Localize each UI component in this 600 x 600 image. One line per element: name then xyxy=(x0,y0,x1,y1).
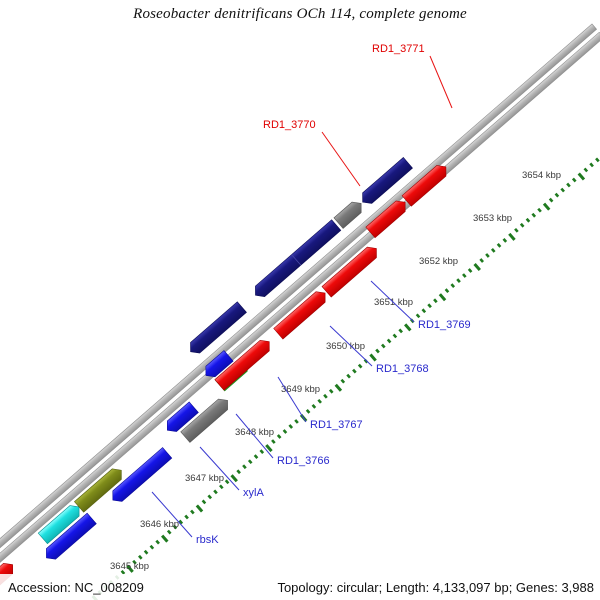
ruler-tick-minor xyxy=(278,435,281,438)
ruler-tick-minor xyxy=(388,339,391,342)
ruler-tick-minor xyxy=(446,289,449,292)
ruler-tick-major xyxy=(232,475,237,481)
ruler-tick-minor xyxy=(538,209,541,212)
ruler-tick-minor xyxy=(486,254,489,257)
ruler-tick-minor xyxy=(284,430,287,433)
ruler-tick-minor xyxy=(573,178,576,181)
ruler-tick-minor xyxy=(585,168,588,171)
gene-track-below[interactable] xyxy=(0,162,472,600)
ruler-tick-minor xyxy=(417,314,420,317)
ruler-tick-label: 3647 kbp xyxy=(185,473,224,484)
ruler-tick-major xyxy=(370,355,375,361)
ruler-tick-minor xyxy=(359,365,362,368)
ruler-tick-minor xyxy=(226,480,229,483)
status-bar: Accession: NC_008209 Topology: circular;… xyxy=(0,574,600,600)
ruler-tick-minor xyxy=(556,194,559,197)
ruler-tick-minor xyxy=(185,515,188,518)
ruler-tick-minor xyxy=(307,410,310,413)
ruler-tick-minor xyxy=(498,244,501,247)
leader-rbsK xyxy=(152,492,192,537)
ruler-tick-minor xyxy=(399,329,402,332)
ruler-tick-minor xyxy=(353,370,356,373)
ruler-tick-minor xyxy=(590,163,593,166)
ruler-tick-minor xyxy=(145,551,148,554)
ruler-tick-minor xyxy=(457,279,460,282)
ruler-tick-minor xyxy=(521,224,524,227)
ruler-tick-minor xyxy=(515,229,518,232)
gene-gray-top[interactable] xyxy=(334,198,366,228)
ruler-tick-label: 3649 kbp xyxy=(281,384,320,395)
gene-label-RD1_3767[interactable]: RD1_3767 xyxy=(310,419,363,431)
leader-RD1_3771 xyxy=(430,56,452,108)
ruler-tick-minor xyxy=(168,531,171,534)
ruler-tick-minor xyxy=(272,440,275,443)
gene-label-RD1_3768[interactable]: RD1_3768 xyxy=(376,363,429,375)
genome-viewer: Roseobacter denitrificans OCh 114, compl… xyxy=(0,0,600,600)
ruler-tick-minor xyxy=(324,395,327,398)
ruler-tick-label: 3645 kbp xyxy=(110,561,149,572)
gene-label-RD1_3769[interactable]: RD1_3769 xyxy=(418,319,471,331)
ruler-tick-minor xyxy=(214,490,217,493)
ruler-tick-major xyxy=(544,204,549,210)
ruler-tick-major xyxy=(475,264,480,270)
ruler-tick-major xyxy=(336,385,341,391)
ruler-tick-minor xyxy=(318,400,321,403)
ruler-tick-minor xyxy=(243,465,246,468)
ruler-tick-label: 3652 kbp xyxy=(419,256,458,267)
ruler-tick-minor xyxy=(330,390,333,393)
ruler-tick-minor xyxy=(428,304,431,307)
ruler-tick-minor xyxy=(376,350,379,353)
gene-label-RD1_3771[interactable]: RD1_3771 xyxy=(372,43,425,55)
ruler-tick-major xyxy=(509,234,514,240)
ruler-tick-minor xyxy=(434,299,437,302)
ruler-tick-minor xyxy=(139,556,142,559)
gene-label-xylA[interactable]: xylA xyxy=(243,487,264,499)
gene-label-RD1_3766[interactable]: RD1_3766 xyxy=(277,455,330,467)
ruler-tick-minor xyxy=(203,500,206,503)
ruler-tick-minor xyxy=(156,541,159,544)
ruler-tick-minor xyxy=(289,425,292,428)
ruler-tick-major xyxy=(405,324,410,330)
ruler-tick-label: 3654 kbp xyxy=(522,170,561,181)
ruler-tick-minor xyxy=(191,510,194,513)
ruler-tick-minor xyxy=(255,455,258,458)
ruler-tick-major xyxy=(197,505,202,511)
gene-label-rbsK[interactable]: rbsK xyxy=(196,534,219,546)
ruler-tick-minor xyxy=(394,334,397,337)
ruler-tick-minor xyxy=(208,495,211,498)
ruler-tick-minor xyxy=(492,249,495,252)
ruler-tick-label: 3653 kbp xyxy=(473,213,512,224)
ruler-tick-minor xyxy=(220,485,223,488)
ruler-tick-minor xyxy=(313,405,316,408)
ruler-tick-minor xyxy=(567,184,570,187)
ruler-tick-minor xyxy=(342,380,345,383)
ruler-tick-minor xyxy=(550,199,553,202)
ruler-tick-major xyxy=(440,294,445,300)
ruler-tick-minor xyxy=(151,546,154,549)
leader-RD1_3770 xyxy=(322,132,360,186)
ruler-tick-minor xyxy=(527,219,530,222)
ruler-tick-minor xyxy=(382,344,385,347)
ruler-tick-minor xyxy=(504,239,507,242)
gene-label-RD1_3770[interactable]: RD1_3770 xyxy=(263,119,316,131)
genome-map-canvas[interactable]: 3645 kbp3646 kbp3647 kbp3648 kbp3649 kbp… xyxy=(0,0,600,600)
ruler-tick-minor xyxy=(561,189,564,192)
ruler-tick-minor xyxy=(295,420,298,423)
ruler-tick-minor xyxy=(347,375,350,378)
ruler-tick-label: 3650 kbp xyxy=(326,341,365,352)
ruler-tick-minor xyxy=(596,158,599,161)
gene-navy-top[interactable] xyxy=(358,157,412,207)
ruler-tick-label: 3646 kbp xyxy=(140,519,179,530)
ruler-tick-minor xyxy=(480,259,483,262)
ruler-tick-minor xyxy=(463,274,466,277)
ruler-tick-major xyxy=(579,173,584,179)
ruler-tick-minor xyxy=(423,309,426,312)
ruler-tick-minor xyxy=(237,470,240,473)
ruler-tick-minor xyxy=(260,450,263,453)
ruler-tick-major xyxy=(162,536,167,542)
ruler-tick-minor xyxy=(249,460,252,463)
ruler-tick-minor xyxy=(469,269,472,272)
genome-summary-text: Topology: circular; Length: 4,133,097 bp… xyxy=(277,580,594,595)
ruler-tick-minor xyxy=(532,214,535,217)
ruler-tick-minor xyxy=(451,284,454,287)
accession-text: Accession: NC_008209 xyxy=(8,580,144,595)
